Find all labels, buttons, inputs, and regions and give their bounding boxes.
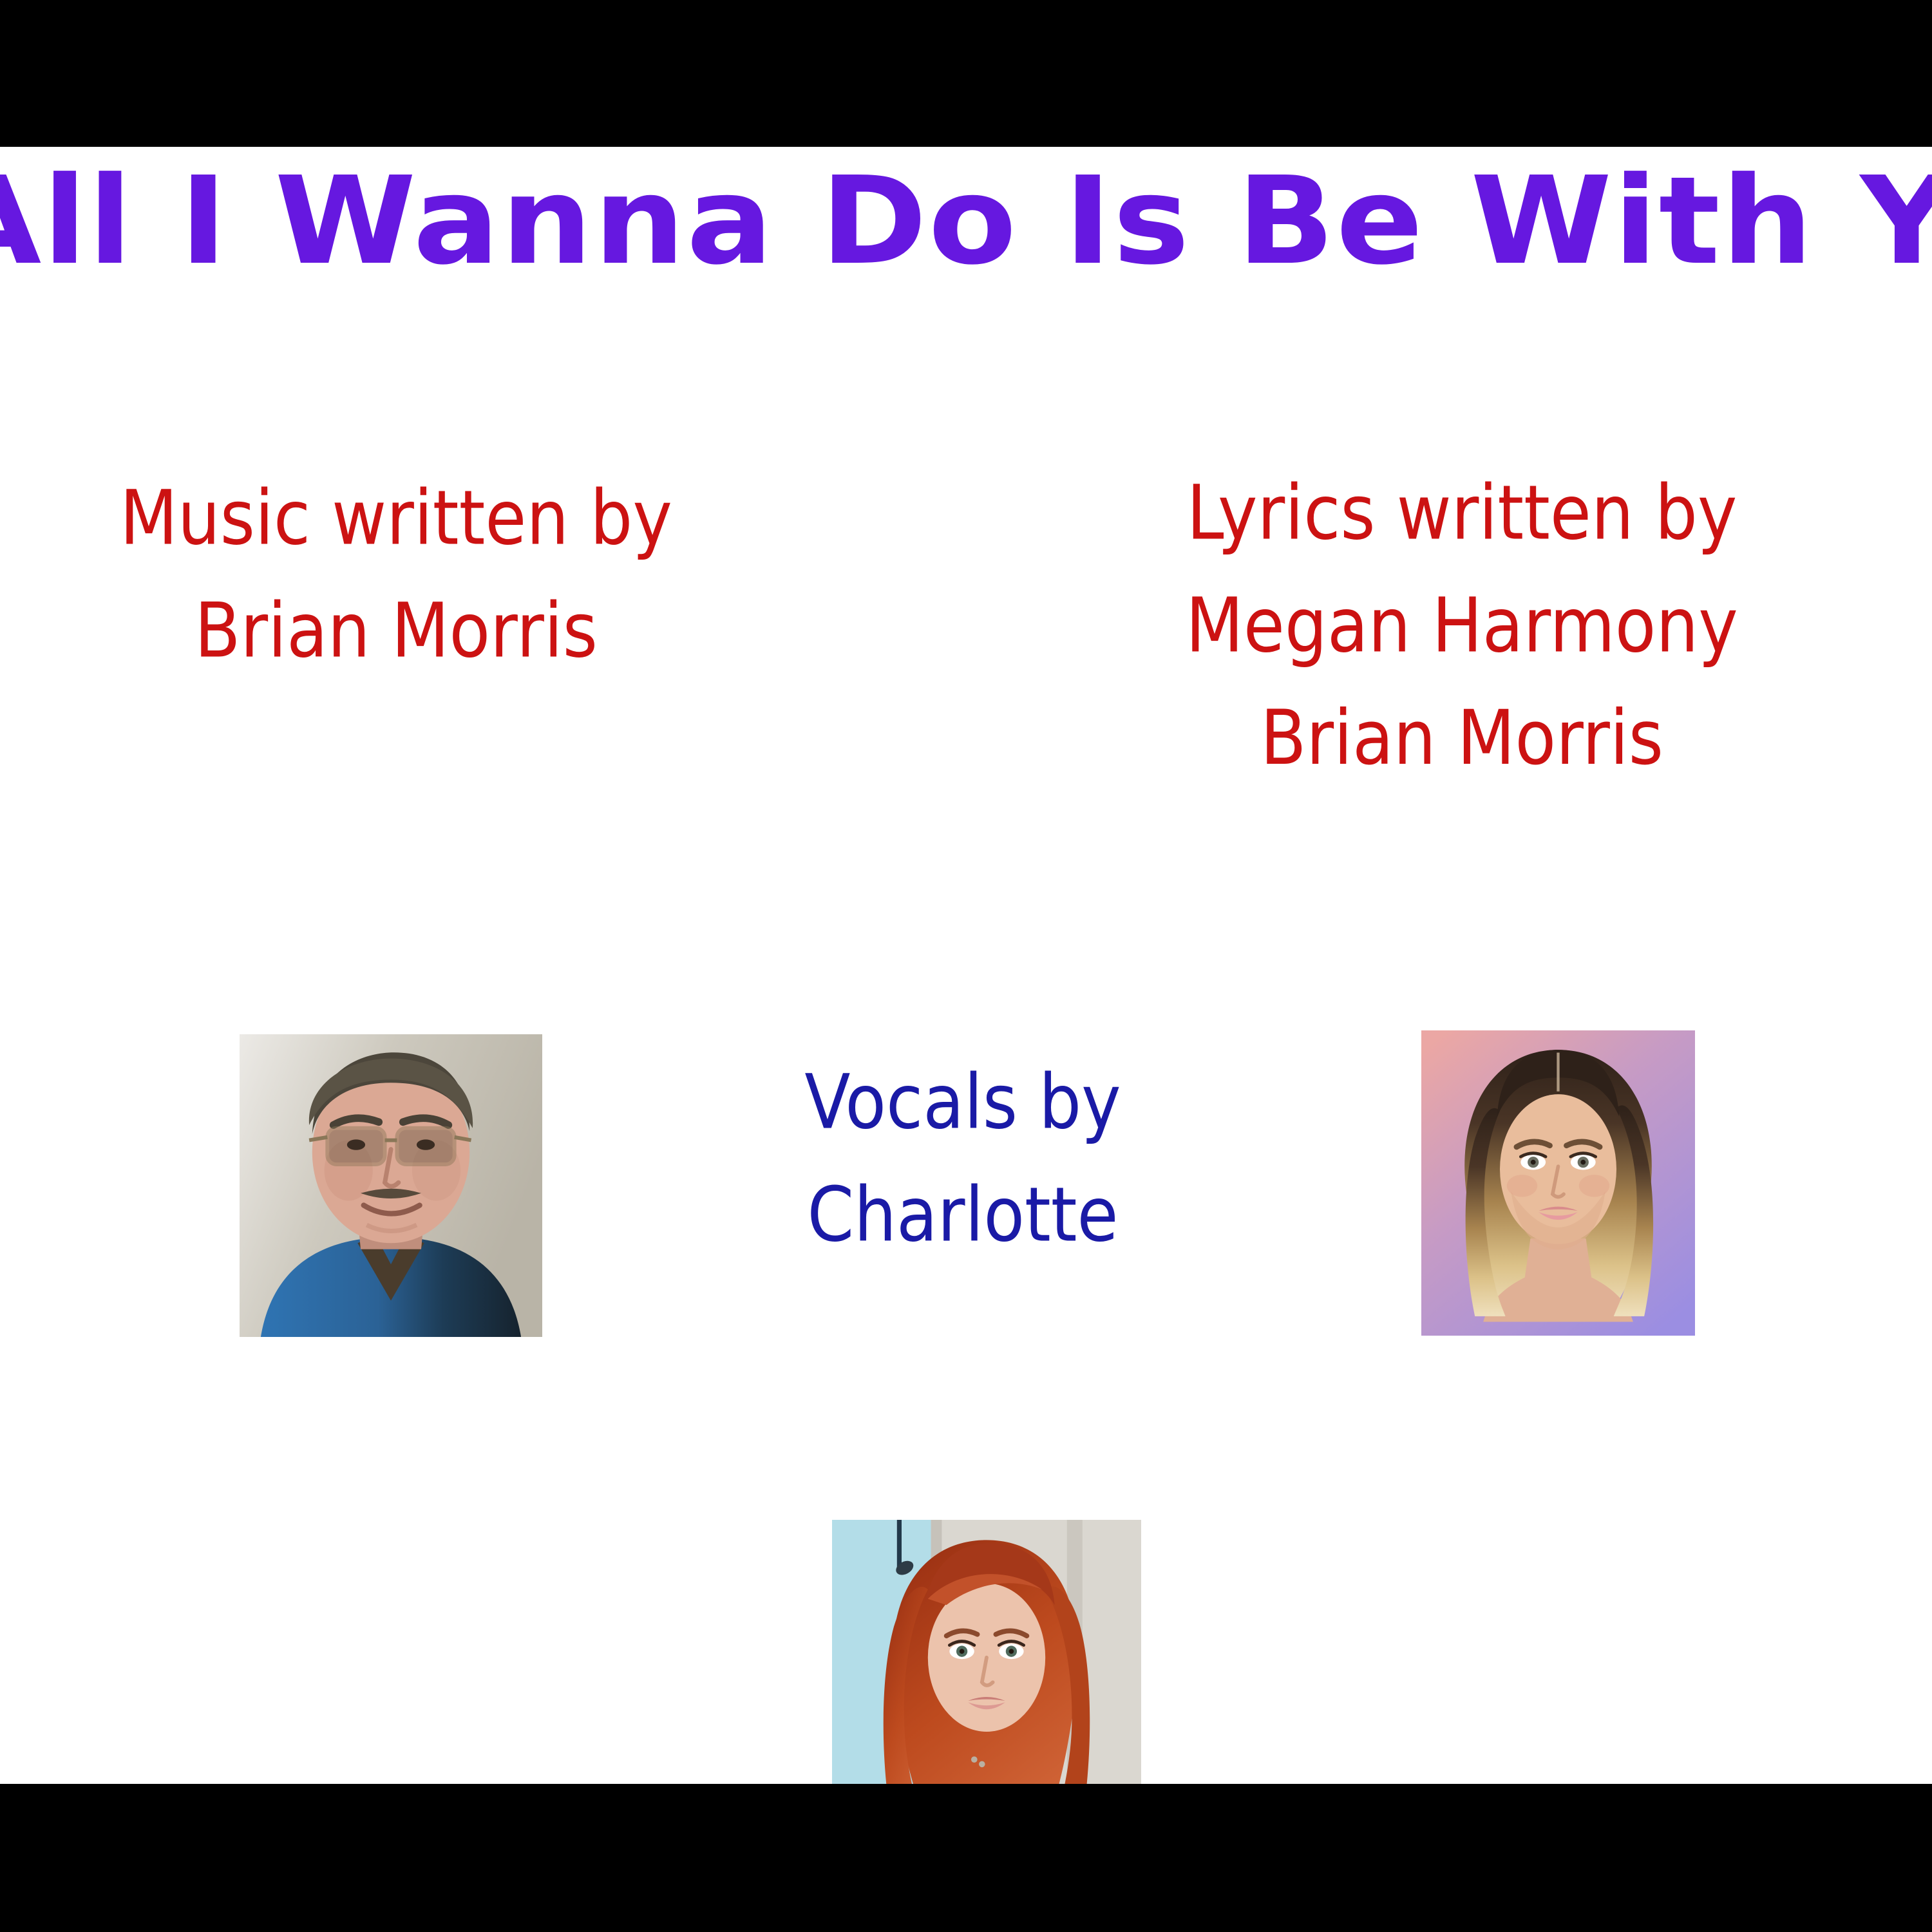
megan-harmony-portrait-illustration bbox=[1421, 1030, 1695, 1336]
slide-stage: All I Wanna Do Is Be With You Music writ… bbox=[0, 0, 1932, 1932]
song-title: All I Wanna Do Is Be With You bbox=[0, 161, 1932, 282]
lyrics-credit-block: Lyrics written by Megan Harmony Brian Mo… bbox=[1095, 475, 1829, 775]
vocals-credit-heading: Vocals by bbox=[667, 1065, 1259, 1139]
lyrics-credit-heading: Lyrics written by bbox=[1095, 475, 1829, 550]
music-credit-name: Brian Morris bbox=[39, 593, 753, 668]
lyrics-credit-name-2: Brian Morris bbox=[1095, 700, 1829, 775]
charlotte-photo bbox=[832, 1520, 1141, 1784]
vocals-credit-block: Vocals by Charlotte bbox=[667, 1065, 1259, 1252]
charlotte-portrait-illustration bbox=[832, 1520, 1141, 1784]
brian-morris-portrait-illustration bbox=[240, 1034, 542, 1337]
vocals-credit-name: Charlotte bbox=[667, 1177, 1259, 1252]
letterbox-bar-bottom bbox=[0, 1784, 1932, 1932]
letterbox-bar-top bbox=[0, 0, 1932, 147]
lyrics-credit-name-1: Megan Harmony bbox=[1095, 588, 1829, 663]
brian-morris-photo bbox=[240, 1034, 542, 1337]
music-credit-block: Music written by Brian Morris bbox=[39, 480, 753, 668]
slide-canvas: All I Wanna Do Is Be With You Music writ… bbox=[0, 147, 1932, 1784]
music-credit-heading: Music written by bbox=[39, 480, 753, 555]
megan-harmony-photo bbox=[1421, 1030, 1695, 1336]
